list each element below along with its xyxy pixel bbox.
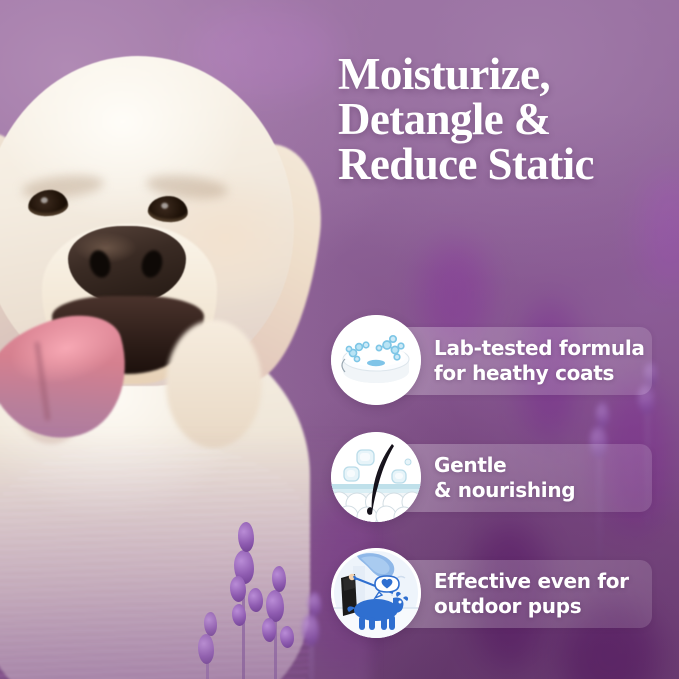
dog-walking-leash-icon xyxy=(331,548,421,638)
feature-text-lab-tested: Lab-tested formula for heathy coats xyxy=(434,336,645,386)
feature-line-2: for heathy coats xyxy=(434,361,645,386)
feature-text-outdoor-pups: Effective even for outdoor pups xyxy=(434,569,629,619)
headline-line-3: Reduce Static xyxy=(338,142,670,187)
feature-line-1: Lab-tested formula xyxy=(434,336,645,361)
feature-line-1: Gentle xyxy=(434,453,575,478)
feature-text-gentle-nourishing: Gentle & nourishing xyxy=(434,453,575,503)
feature-line-2: & nourishing xyxy=(434,478,575,503)
headline-line-1: Moisturize, xyxy=(338,52,670,97)
feature-line-1: Effective even for xyxy=(434,569,629,594)
hair-follicle-droplets-icon xyxy=(331,432,421,522)
marketing-banner: Moisturize, Detangle & Reduce Static Lab… xyxy=(0,0,679,679)
headline-line-2: Detangle & xyxy=(338,97,670,142)
petri-dish-molecules-icon xyxy=(331,315,421,405)
headline: Moisturize, Detangle & Reduce Static xyxy=(338,52,670,187)
feature-line-2: outdoor pups xyxy=(434,594,629,619)
